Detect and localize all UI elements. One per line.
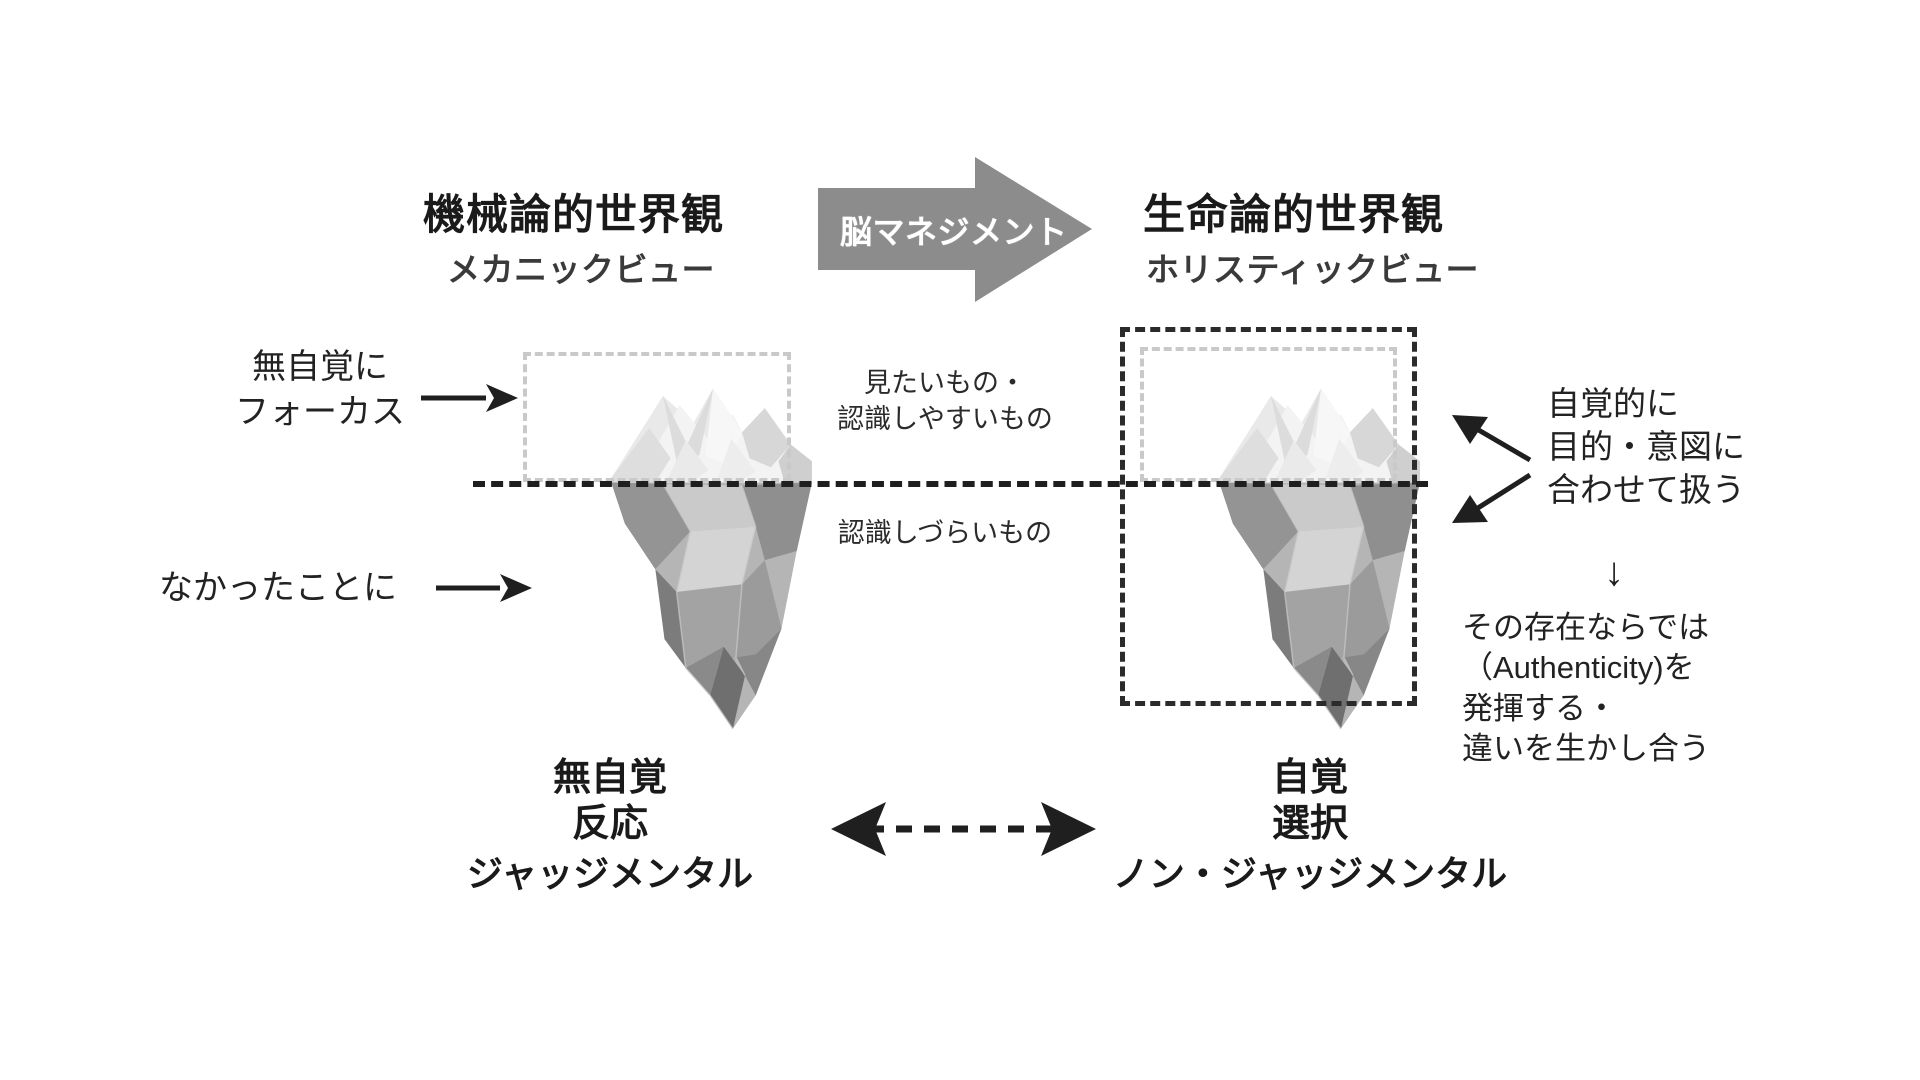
authenticity-line1: その存在ならでは — [1462, 608, 1882, 648]
awareness-box-left — [523, 352, 791, 482]
header-right-title: 生命論的世界観 — [1143, 193, 1444, 237]
visible-things-line2: 認識しやすいもの — [795, 401, 1095, 437]
unconscious-focus-label: 無自覚に フォーカス — [215, 345, 425, 435]
ignored-label: なかったことに — [123, 566, 433, 611]
conscious-handling-label: 自覚的に 目的・意図に 合わせて扱う — [1547, 383, 1887, 512]
awareness-box-right-inner — [1140, 347, 1397, 482]
header-left-subtitle: メカニックビュー — [447, 253, 715, 288]
footer-left-line1: 無自覚 — [400, 755, 820, 801]
waterline-dashed — [473, 481, 1428, 487]
hidden-things-line1: 認識しづらいもの — [795, 515, 1095, 551]
banner-label: 脳マネジメント — [840, 207, 1068, 253]
unconscious-focus-line1: 無自覚に — [215, 345, 425, 390]
footer-left-block: 無自覚 反応 ジャッジメンタル — [400, 755, 820, 895]
ignore-arrow — [436, 574, 532, 602]
unconscious-focus-line2: フォーカス — [215, 390, 425, 435]
compare-double-arrow — [831, 802, 1096, 856]
footer-right-line2: 選択 — [1090, 801, 1530, 847]
footer-left-line2: 反応 — [400, 801, 820, 847]
conscious-arrow-up — [1452, 415, 1530, 460]
conscious-line3: 合わせて扱う — [1547, 469, 1887, 512]
conscious-line1: 自覚的に — [1547, 383, 1887, 426]
header-right-subtitle: ホリスティックビュー — [1146, 253, 1479, 288]
focus-arrow — [421, 384, 518, 412]
visible-things-line1: 見たいもの・ — [795, 365, 1095, 401]
brain-management-banner: 脳マネジメント — [818, 157, 1092, 302]
footer-right-line3: ノン・ジャッジメンタル — [1090, 852, 1530, 895]
diagram-canvas: 機械論的世界観 メカニックビュー 生命論的世界観 ホリスティックビュー 脳マネジ… — [0, 0, 1920, 1080]
footer-right-line1: 自覚 — [1090, 755, 1530, 801]
authenticity-label: その存在ならでは （Authenticity)を 発揮する・ 違いを生かし合う — [1462, 608, 1882, 769]
visible-things-label: 見たいもの・ 認識しやすいもの — [795, 365, 1095, 437]
conscious-line2: 目的・意図に — [1547, 426, 1887, 469]
hidden-things-label: 認識しづらいもの — [795, 515, 1095, 551]
footer-right-block: 自覚 選択 ノン・ジャッジメンタル — [1090, 755, 1530, 895]
header-left-title: 機械論的世界観 — [423, 193, 724, 237]
authenticity-line2: （Authenticity)を — [1462, 648, 1882, 688]
right-down-arrow-glyph: ↓ — [1604, 552, 1624, 592]
ignored-line1: なかったことに — [123, 566, 433, 611]
footer-left-line3: ジャッジメンタル — [400, 852, 820, 895]
conscious-arrow-down — [1452, 475, 1530, 523]
authenticity-line3: 発揮する・ — [1462, 689, 1882, 729]
